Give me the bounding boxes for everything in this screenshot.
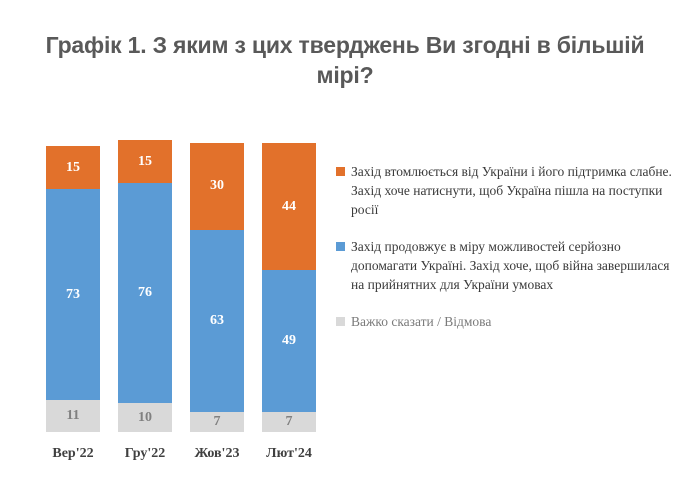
legend-item-label: Захід продовжує в міру можливостей серйо… xyxy=(351,239,670,292)
category-label: Вер'22 xyxy=(40,446,106,462)
segment-value-label: 73 xyxy=(46,288,100,302)
category-label: Жов'23 xyxy=(184,446,250,462)
legend-swatch-gray-icon xyxy=(336,317,345,326)
bar-group: 30637Жов'23 xyxy=(190,0,244,494)
segment-value-label: 49 xyxy=(262,334,316,348)
segment-west-helps[interactable]: 73 xyxy=(46,189,100,400)
segment-value-label: 30 xyxy=(190,179,244,193)
segment-value-label: 44 xyxy=(262,200,316,214)
segment-value-label: 7 xyxy=(190,415,244,429)
segment-west-helps[interactable]: 76 xyxy=(118,183,172,403)
plot-area: 157311Вер'22157610Гру'2230637Жов'2344497… xyxy=(0,0,340,494)
legend-item-hard-to-say[interactable]: Важко сказати / Відмова xyxy=(336,312,686,331)
chart-legend: Захід втомлюється від України і його під… xyxy=(336,162,686,349)
segment-value-label: 15 xyxy=(118,155,172,169)
bar-group: 44497Лют'24 xyxy=(262,0,316,494)
legend-item-label: Захід втомлюється від України і його під… xyxy=(351,164,672,217)
segment-west-tired[interactable]: 15 xyxy=(46,146,100,189)
segment-hard-to-say[interactable]: 10 xyxy=(118,403,172,432)
legend-item-west-tired[interactable]: Захід втомлюється від України і його під… xyxy=(336,162,686,219)
stacked-bar[interactable]: 30637 xyxy=(190,143,244,432)
segment-value-label: 76 xyxy=(118,286,172,300)
segment-west-tired[interactable]: 44 xyxy=(262,143,316,270)
segment-value-label: 11 xyxy=(46,409,100,423)
segment-hard-to-say[interactable]: 7 xyxy=(190,412,244,432)
segment-value-label: 15 xyxy=(46,161,100,175)
segment-west-helps[interactable]: 63 xyxy=(190,230,244,412)
legend-swatch-blue-icon xyxy=(336,242,345,251)
legend-item-west-helps[interactable]: Захід продовжує в міру можливостей серйо… xyxy=(336,237,686,294)
stacked-bar[interactable]: 157610 xyxy=(118,140,172,432)
stacked-bar[interactable]: 44497 xyxy=(262,143,316,432)
segment-value-label: 63 xyxy=(190,314,244,328)
segment-west-tired[interactable]: 30 xyxy=(190,143,244,230)
bar-group: 157610Гру'22 xyxy=(118,0,172,494)
bar-group: 157311Вер'22 xyxy=(46,0,100,494)
category-label: Лют'24 xyxy=(256,446,322,462)
legend-item-label: Важко сказати / Відмова xyxy=(351,314,491,329)
stacked-bar[interactable]: 157311 xyxy=(46,146,100,432)
segment-value-label: 7 xyxy=(262,415,316,429)
segment-value-label: 10 xyxy=(118,411,172,425)
segment-hard-to-say[interactable]: 7 xyxy=(262,412,316,432)
segment-hard-to-say[interactable]: 11 xyxy=(46,400,100,432)
category-label: Гру'22 xyxy=(112,446,178,462)
segment-west-helps[interactable]: 49 xyxy=(262,270,316,412)
legend-swatch-orange-icon xyxy=(336,167,345,176)
segment-west-tired[interactable]: 15 xyxy=(118,140,172,183)
